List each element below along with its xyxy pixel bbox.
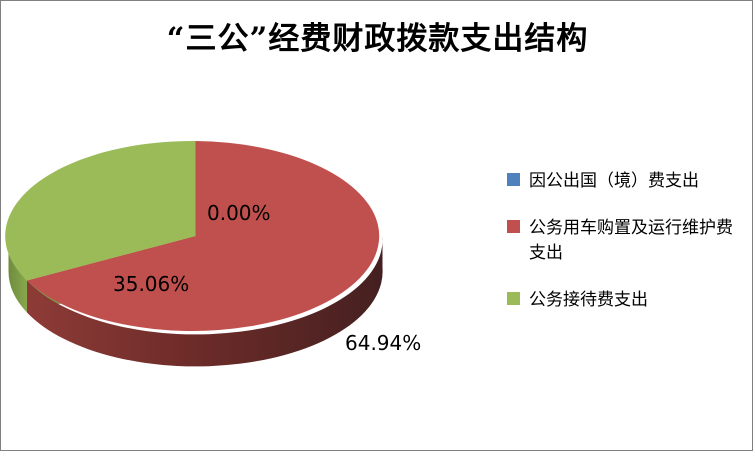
legend-item-0[interactable]: 因公出国（境）费支出 (507, 169, 747, 194)
legend-swatch-icon-2 (507, 292, 520, 305)
data-label-green: 35.06% (113, 273, 189, 295)
legend-label-2: 公务接待费支出 (529, 288, 648, 313)
pie-chart-3d (1, 89, 501, 389)
chart-legend: 因公出国（境）费支出 公务用车购置及运行维护费支出 公务接待费支出 (507, 169, 747, 335)
legend-swatch-icon-1 (507, 220, 520, 233)
chart-title: “三公”经费财政拨款支出结构 (1, 19, 753, 59)
legend-item-1[interactable]: 公务用车购置及运行维护费支出 (507, 216, 747, 266)
chart-container: “三公”经费财政拨款支出结构 (0, 0, 753, 451)
data-label-red: 64.94% (345, 332, 421, 354)
plot-area: 0.00% 35.06% 64.94% (1, 89, 501, 389)
legend-item-2[interactable]: 公务接待费支出 (507, 288, 747, 313)
legend-swatch-icon-0 (507, 173, 520, 186)
legend-label-0: 因公出国（境）费支出 (529, 169, 699, 194)
data-label-blue: 0.00% (207, 202, 271, 224)
legend-label-1: 公务用车购置及运行维护费支出 (529, 216, 747, 266)
